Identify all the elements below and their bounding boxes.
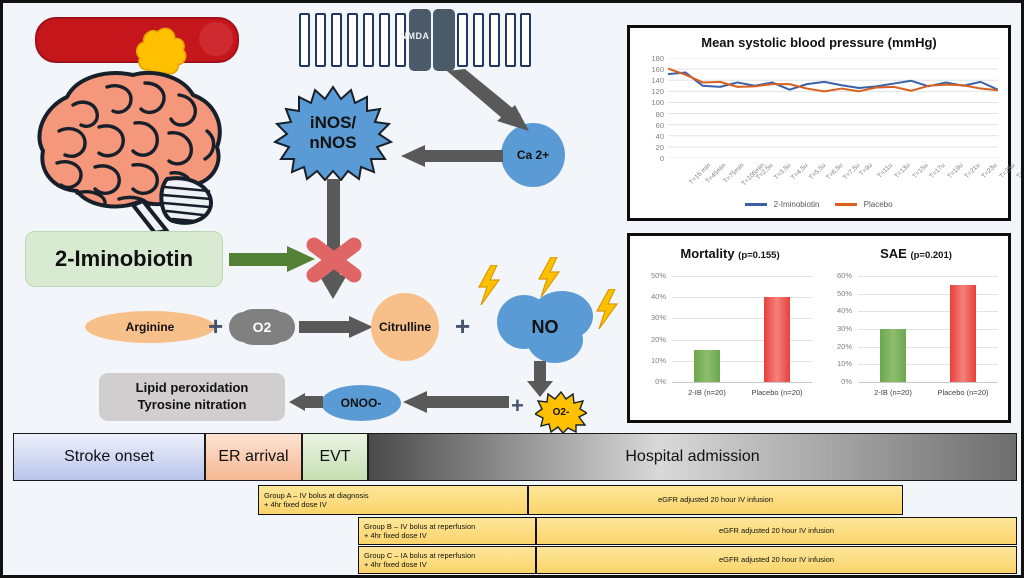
legend-item-2-iminobiotin: 2-Iminobiotin [745,200,819,209]
inos-label: iNOS/ [309,113,356,133]
sae-title: SAE (p=0.201) [826,246,1006,261]
nmda-label: NMDA [299,31,531,41]
timeline-phase-evt: EVT [302,433,368,481]
mortality-gridline [672,297,812,298]
inhibition-x-icon [303,235,365,285]
group-b-infusion: eGFR adjusted 20 hour IV infusion [536,517,1017,545]
mortality-category-label: Placebo (n=20) [742,388,812,397]
bp-x-tick: T=9u [858,162,874,178]
nnos-label: nNOS [309,133,356,153]
citrulline-node: Citrulline [371,293,439,361]
mortality-bar [694,350,720,382]
arrow-nmda-to-calcium [443,69,533,133]
bp-x-tick: T=6,5u [825,162,844,181]
bp-x-tick: T=25u [998,162,1016,180]
oxidative-damage-box: Lipid peroxidation Tyrosine nitration [99,373,285,421]
sae-category-label: Placebo (n=20) [928,388,998,397]
sae-category-label: 2-IB (n=20) [858,388,928,397]
bp-chart-title: Mean systolic blood pressure (mmHg) [630,35,1008,50]
bp-x-tick: T=11u [876,162,894,180]
mortality-bar [764,297,790,382]
mortality-y-tick: 10% [640,356,666,365]
bp-x-tick: T=21u [963,162,981,180]
bp-y-tick: 40 [634,132,664,141]
sae-y-tick: 30% [826,324,852,333]
sae-y-tick: 40% [826,306,852,315]
plus-sign-no-superoxide: + [511,395,524,417]
oxygen-node: O2 [235,309,289,345]
timeline-phase-stroke-onset: Stroke onset [13,433,205,481]
legend-swatch-blue [745,203,767,206]
sae-y-tick: 60% [826,271,852,280]
sae-y-tick: 20% [826,342,852,351]
mortality-title: Mortality (p=0.155) [640,246,820,261]
plus-sign-citrulline-no: + [455,313,470,339]
bp-y-tick: 20 [634,143,664,152]
blood-pressure-chart-panel: Mean systolic blood pressure (mmHg) 1801… [627,25,1011,221]
bp-y-tick: 60 [634,121,664,130]
plus-sign-arginine-o2: + [208,313,223,339]
arginine-node: Arginine [85,311,215,343]
bp-x-tick: T=23u [981,162,999,180]
timeline-phase-er-arrival: ER arrival [205,433,302,481]
sae-gridline [858,276,998,277]
lipid-peroxidation-label: Lipid peroxidation [136,380,249,397]
bp-x-tick: T=28u [1015,162,1024,180]
bp-y-tick: 180 [634,54,664,63]
sae-y-tick: 10% [826,359,852,368]
mortality-gridline [672,361,812,362]
lightning-bolt-icon [477,265,501,305]
mortality-gridline [672,318,812,319]
legend-swatch-orange [835,203,857,206]
bp-y-tick: 80 [634,110,664,119]
vessel-end-cap [199,22,233,56]
timeline-phase-hospital-admission: Hospital admission [368,433,1017,481]
drug-box-2-iminobiotin: 2-Iminobiotin [25,231,223,287]
sae-gridline [858,311,998,312]
mortality-y-tick: 20% [640,335,666,344]
group-c-infusion: eGFR adjusted 20 hour IV infusion [536,546,1017,574]
bp-legend: 2-Iminobiotin Placebo [630,200,1008,209]
lightning-bolt-icon [537,257,561,297]
bp-x-tick: T=15u [911,162,929,180]
figure-root: NMDA iNOS/ nNOS Ca 2+ 2-Iminobiotin [0,0,1024,578]
outcomes-chart-panel: Mortality (p=0.155) 0%10%20%30%40%50% 2-… [627,233,1011,423]
bp-x-tick: T=3,5u [773,162,792,181]
mortality-y-tick: 30% [640,313,666,322]
brain-illustration [15,61,239,233]
sae-baseline [858,382,998,383]
group-b-bolus: Group B – IV bolus at reperfusion + 4hr … [358,517,536,545]
bp-y-tick: 100 [634,98,664,107]
sae-gridline [858,329,998,330]
arrow-substrates-to-citrulline [299,316,373,338]
bp-y-tick: 120 [634,87,664,96]
sae-plot-area [858,276,998,382]
tyrosine-nitration-label: Tyrosine nitration [136,397,249,414]
bp-x-tick: T=13u [894,162,912,180]
mortality-y-tick: 0% [640,377,666,386]
bp-y-tick: 160 [634,65,664,74]
blood-vessel [35,17,239,63]
bp-plot-area [668,58,998,158]
bp-y-tick: 140 [634,76,664,85]
group-c-bolus: Group C – IA bolus at reperfusion + 4hr … [358,546,536,574]
mortality-plot-area [672,276,812,382]
bp-y-tick: 0 [634,154,664,163]
mortality-gridline [672,276,812,277]
legend-item-placebo: Placebo [835,200,892,209]
bp-lines [668,58,998,158]
sae-y-tick: 50% [826,289,852,298]
arrow-to-peroxynitrite [403,391,509,413]
bp-x-axis: T=15 minT=45minT=75minT=105minT=2,5uT=3,… [668,160,998,204]
sae-bar [950,285,976,382]
group-a-infusion: eGFR adjusted 20 hour IV infusion [528,485,903,515]
group-a-bolus: Group A – IV bolus at diagnosis + 4hr fi… [258,485,528,515]
mortality-gridline [672,340,812,341]
bp-x-tick: T=4,5u [790,162,809,181]
arrow-to-damage [289,391,323,413]
mortality-chart: Mortality (p=0.155) 0%10%20%30%40%50% 2-… [640,246,820,414]
sae-gridline [858,294,998,295]
mortality-baseline [672,382,812,383]
sae-chart: SAE (p=0.201) 0%10%20%30%40%50%60% 2-IB … [826,246,1006,414]
lightning-bolt-icon [595,289,619,329]
sae-gridline [858,347,998,348]
sae-gridline [858,364,998,365]
study-timeline: Stroke onset ER arrival EVT Hospital adm… [13,433,1017,571]
mortality-y-tick: 50% [640,271,666,280]
superoxide-node: O2- [535,391,587,433]
inos-nnos-node: iNOS/ nNOS [271,85,395,181]
mortality-y-tick: 40% [640,292,666,301]
bp-x-tick: T=19u [946,162,964,180]
bp-x-tick: T=5,5u [808,162,827,181]
peroxynitrite-node: ONOO- [321,385,401,421]
mortality-category-label: 2-IB (n=20) [672,388,742,397]
nitric-oxide-node: NO [497,291,593,363]
sae-y-tick: 0% [826,377,852,386]
bp-x-tick: T=17u [929,162,947,180]
arrow-calcium-to-nos [401,145,503,167]
sae-bar [880,329,906,382]
